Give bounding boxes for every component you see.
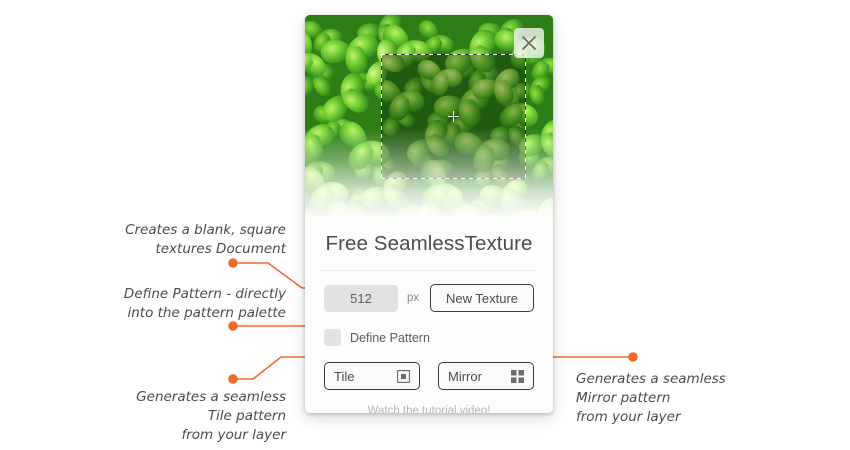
new-texture-button[interactable]: New Texture	[430, 284, 534, 312]
size-unit-label: px	[407, 292, 419, 304]
define-pattern-label: Define Pattern	[350, 331, 430, 345]
seamless-texture-dialog: Free SeamlessTexture px New Texture Defi…	[305, 15, 553, 413]
marquee-edge-top	[381, 54, 526, 55]
crosshair-icon	[448, 111, 459, 122]
annotation-mirror: Generates a seamless Mirror pattern from…	[576, 370, 746, 427]
annotation-new-texture: Creates a blank, square textures Documen…	[120, 221, 286, 259]
tile-button[interactable]: Tile	[324, 362, 420, 390]
connector-dot-new-texture	[228, 258, 238, 268]
marquee-edge-right	[525, 54, 526, 179]
size-row: px New Texture	[324, 284, 534, 312]
connector-mirror	[545, 352, 638, 362]
marquee-edge-bottom	[381, 178, 526, 179]
screenshot-stage: Creates a blank, square textures Documen…	[0, 0, 850, 450]
close-button[interactable]	[514, 28, 544, 58]
selection-marquee[interactable]	[381, 54, 526, 179]
texture-preview[interactable]	[305, 15, 553, 220]
page-title: Free SeamlessTexture	[305, 232, 553, 256]
pattern-actions-row: Tile Mirror	[324, 362, 534, 390]
title-divider	[321, 270, 537, 271]
mirror-grid-icon	[511, 370, 524, 383]
define-pattern-checkbox[interactable]	[324, 329, 341, 346]
mirror-button[interactable]: Mirror	[438, 362, 534, 390]
tile-button-label: Tile	[334, 369, 354, 384]
connector-dot-tile	[228, 374, 238, 384]
tile-center-icon	[397, 370, 410, 383]
connector-dot-mirror	[628, 352, 638, 362]
define-pattern-row: Define Pattern	[324, 329, 534, 346]
mirror-button-label: Mirror	[448, 369, 482, 384]
size-input[interactable]	[324, 285, 398, 312]
close-icon	[514, 28, 544, 58]
annotation-tile: Generates a seamless Tile pattern from y…	[120, 388, 286, 445]
dialog-body: Free SeamlessTexture px New Texture Defi…	[305, 220, 553, 413]
annotation-define-pattern: Define Pattern - directly into the patte…	[105, 285, 286, 323]
marquee-edge-left	[381, 54, 382, 179]
tutorial-video-link[interactable]: Watch the tutorial video!	[305, 405, 553, 413]
